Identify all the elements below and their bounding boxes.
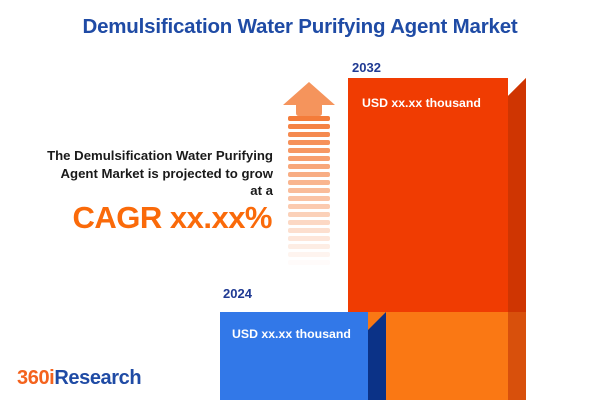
arrow-stripe bbox=[288, 220, 330, 225]
narrative-line-1: The Demulsification Water Purifying bbox=[8, 147, 273, 165]
arrow-stripe bbox=[288, 180, 330, 185]
arrow-stripe bbox=[288, 156, 330, 161]
narrative-text: The Demulsification Water Purifying Agen… bbox=[8, 147, 273, 200]
arrow-stripe bbox=[288, 116, 330, 121]
arrow-stripe bbox=[288, 236, 330, 241]
bar-value-label-2024: USD xx.xx thousand bbox=[232, 327, 351, 341]
bar-2024-front-face bbox=[220, 312, 368, 400]
arrow-stripe bbox=[288, 188, 330, 193]
bar-2032-front-face-upper bbox=[348, 78, 508, 312]
arrow-shaft-stripes bbox=[288, 116, 330, 287]
arrow-stripe bbox=[288, 196, 330, 201]
bar-value-label-2032: USD xx.xx thousand bbox=[362, 96, 481, 110]
narrative-line-2: Agent Market is projected to grow bbox=[8, 165, 273, 183]
arrow-stripe bbox=[288, 204, 330, 209]
logo-research: Research bbox=[54, 367, 141, 389]
arrow-stripe bbox=[288, 172, 330, 177]
growth-arrow-icon bbox=[283, 82, 335, 287]
arrow-stripe bbox=[288, 252, 330, 257]
arrow-head-icon bbox=[283, 82, 335, 116]
arrow-stripe bbox=[288, 244, 330, 249]
bar-2024-side-face bbox=[368, 312, 386, 400]
arrow-stripe bbox=[288, 260, 330, 265]
logo-360i: 360i bbox=[17, 367, 54, 389]
arrow-stripe bbox=[288, 228, 330, 233]
narrative-line-3: at a bbox=[8, 182, 273, 200]
bar-2032-side-face-upper bbox=[508, 78, 526, 312]
arrow-stripe bbox=[288, 164, 330, 169]
arrow-stripe bbox=[288, 268, 330, 273]
bar-2024 bbox=[220, 312, 386, 400]
brand-logo: 360iResearch bbox=[17, 367, 141, 390]
year-label-2032: 2032 bbox=[352, 60, 381, 75]
cagr-value: CAGR xx.xx% bbox=[8, 200, 272, 236]
arrow-stripe bbox=[288, 276, 330, 281]
page-title: Demulsification Water Purifying Agent Ma… bbox=[0, 15, 600, 39]
year-label-2024: 2024 bbox=[223, 286, 252, 301]
arrow-stripe bbox=[288, 132, 330, 137]
arrow-stripe bbox=[288, 140, 330, 145]
arrow-stripe bbox=[288, 124, 330, 129]
arrow-stripe bbox=[288, 148, 330, 153]
infographic-canvas: Demulsification Water Purifying Agent Ma… bbox=[0, 0, 600, 400]
arrow-stripe bbox=[288, 212, 330, 217]
